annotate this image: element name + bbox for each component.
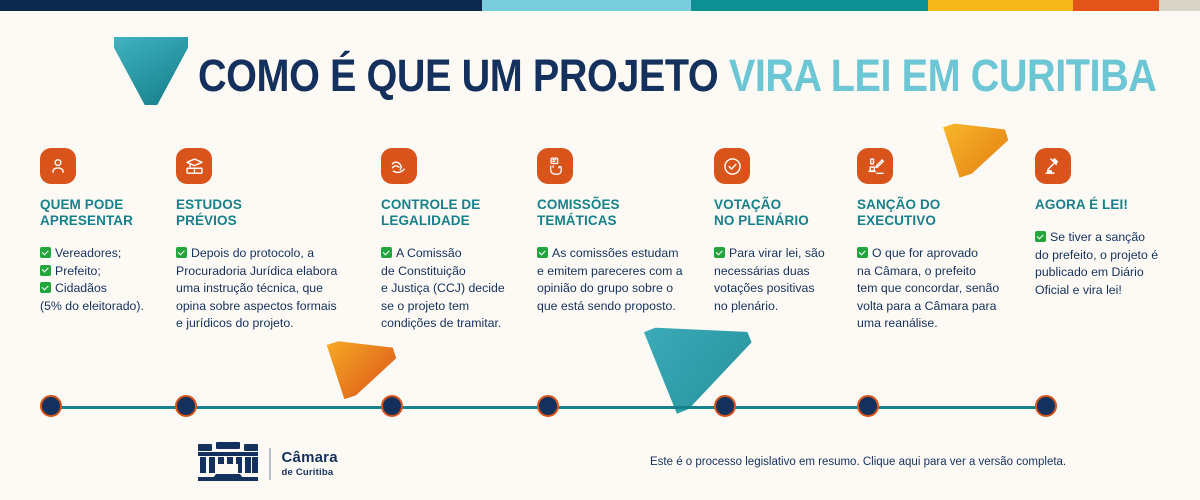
checkbox-check-icon	[714, 247, 725, 258]
person-icon	[40, 148, 76, 184]
logo-wordmark: Câmara de Curitiba	[282, 450, 338, 478]
topbar-segment-teal	[691, 0, 929, 11]
checkbox-check-icon	[40, 282, 51, 293]
timeline-dot-controle-de-legalidade[interactable]	[381, 395, 403, 417]
step-heading: SANÇÃO DO EXECUTIVO	[857, 197, 1007, 229]
step-body: Se tiver a sanção do prefeito, o projeto…	[1035, 229, 1175, 299]
logo-brand-line-2: de Curitiba	[282, 468, 338, 478]
top-color-bar	[0, 0, 1200, 11]
stamp-pen-icon	[857, 148, 893, 184]
checkbox-check-icon	[40, 247, 51, 258]
step-bullet-text: As comissões estudam e emitem pareceres …	[537, 246, 683, 313]
title-part-2: VIRA LEI EM CURITIBA	[729, 50, 1157, 101]
step-heading: QUEM PODE APRESENTAR	[40, 197, 170, 229]
step-body: As comissões estudam e emitem pareceres …	[537, 245, 692, 315]
step-bullet: Se tiver a sanção do prefeito, o projeto…	[1035, 229, 1175, 299]
graduation-books-icon	[176, 148, 212, 184]
step-heading: AGORA É LEI!	[1035, 197, 1175, 213]
step-estudos-previos: ESTUDOS PRÉVIOSDepois do protocolo, a Pr…	[176, 148, 351, 333]
timeline-dot-sancao-do-executivo[interactable]	[857, 395, 879, 417]
topbar-segment-light-teal	[482, 0, 691, 11]
timeline-dot-estudos-previos[interactable]	[175, 395, 197, 417]
footer-note[interactable]: Este é o processo legislativo em resumo.…	[650, 455, 1066, 469]
step-bullet-text: Cidadãos (5% do eleitorado).	[40, 281, 144, 313]
step-body: Vereadores;Prefeito;Cidadãos (5% do elei…	[40, 245, 170, 315]
step-bullet: Cidadãos (5% do eleitorado).	[40, 280, 170, 315]
checkbox-check-icon	[40, 265, 51, 276]
step-bullet: Para virar lei, são necessárias duas vot…	[714, 245, 844, 315]
timeline	[0, 395, 1200, 419]
step-body: A Comissão de Constituição e Justiça (CC…	[381, 245, 521, 333]
gavel-icon	[1035, 148, 1071, 184]
step-bullet-text: Vereadores;	[55, 246, 121, 260]
step-body: O que for aprovado na Câmara, o prefeito…	[857, 245, 1007, 333]
topbar-segment-navy	[0, 0, 482, 11]
camara-building-icon	[196, 440, 260, 487]
step-heading: CONTROLE DE LEGALIDADE	[381, 197, 521, 229]
checkbox-check-icon	[857, 247, 868, 258]
step-bullet-text: Depois do protocolo, a Procuradoria Jurí…	[176, 246, 337, 330]
topbar-segment-yellow	[928, 0, 1073, 11]
step-bullet-text: Se tiver a sanção do prefeito, o projeto…	[1035, 230, 1158, 297]
step-controle-de-legalidade: CONTROLE DE LEGALIDADEA Comissão de Cons…	[381, 148, 521, 333]
step-body: Para virar lei, são necessárias duas vot…	[714, 245, 844, 315]
infographic-canvas: COMO É QUE UM PROJETO VIRA LEI EM CURITI…	[0, 0, 1200, 500]
steps-container: QUEM PODE APRESENTARVereadores;Prefeito;…	[0, 148, 1200, 348]
title-part-1: COMO É QUE UM PROJETO	[198, 50, 729, 101]
topbar-segment-orange	[1073, 0, 1158, 11]
timeline-dot-quem-pode-apresentar[interactable]	[40, 395, 62, 417]
step-quem-pode-apresentar: QUEM PODE APRESENTARVereadores;Prefeito;…	[40, 148, 170, 315]
step-bullet: Depois do protocolo, a Procuradoria Jurí…	[176, 245, 351, 333]
timeline-dot-comissoes-tematicas[interactable]	[537, 395, 559, 417]
step-sancao-do-executivo: SANÇÃO DO EXECUTIVOO que for aprovado na…	[857, 148, 1007, 333]
checkbox-check-icon	[1035, 231, 1046, 242]
checkbox-check-icon	[537, 247, 548, 258]
step-heading: COMISSÕES TEMÁTICAS	[537, 197, 692, 229]
step-bullet-text: O que for aprovado na Câmara, o prefeito…	[857, 246, 999, 330]
page-title: COMO É QUE UM PROJETO VIRA LEI EM CURITI…	[198, 53, 1156, 99]
step-bullet-text: Para virar lei, são necessárias duas vot…	[714, 246, 825, 313]
check-circle-icon	[714, 148, 750, 184]
step-heading: ESTUDOS PRÉVIOS	[176, 197, 351, 229]
step-bullet: A Comissão de Constituição e Justiça (CC…	[381, 245, 521, 333]
step-bullet: Vereadores;	[40, 245, 170, 263]
logo-divider	[269, 448, 271, 480]
logo-brand-line-1: Câmara	[282, 450, 338, 465]
camara-de-curitiba-logo[interactable]: Câmara de Curitiba	[196, 440, 338, 487]
step-bullet-text: A Comissão de Constituição e Justiça (CC…	[381, 246, 505, 330]
topbar-segment-beige	[1159, 0, 1200, 11]
checkbox-check-icon	[381, 247, 392, 258]
timeline-dot-agora-e-lei[interactable]	[1035, 395, 1057, 417]
scales-hand-icon	[381, 148, 417, 184]
timeline-dot-votacao-no-plenario[interactable]	[714, 395, 736, 417]
step-bullet: Prefeito;	[40, 263, 170, 281]
step-votacao-no-plenario: VOTAÇÃO NO PLENÁRIOPara virar lei, são n…	[714, 148, 844, 315]
step-heading: VOTAÇÃO NO PLENÁRIO	[714, 197, 844, 229]
step-bullet-text: Prefeito;	[55, 264, 101, 278]
checkbox-check-icon	[176, 247, 187, 258]
step-bullet: As comissões estudam e emitem pareceres …	[537, 245, 692, 315]
step-body: Depois do protocolo, a Procuradoria Jurí…	[176, 245, 351, 333]
hand-vote-icon	[537, 148, 573, 184]
teal-triangle-title	[114, 37, 188, 105]
step-comissoes-tematicas: COMISSÕES TEMÁTICASAs comissões estudam …	[537, 148, 692, 315]
step-bullet: O que for aprovado na Câmara, o prefeito…	[857, 245, 1007, 333]
step-agora-e-lei: AGORA É LEI!Se tiver a sanção do prefeit…	[1035, 148, 1175, 299]
